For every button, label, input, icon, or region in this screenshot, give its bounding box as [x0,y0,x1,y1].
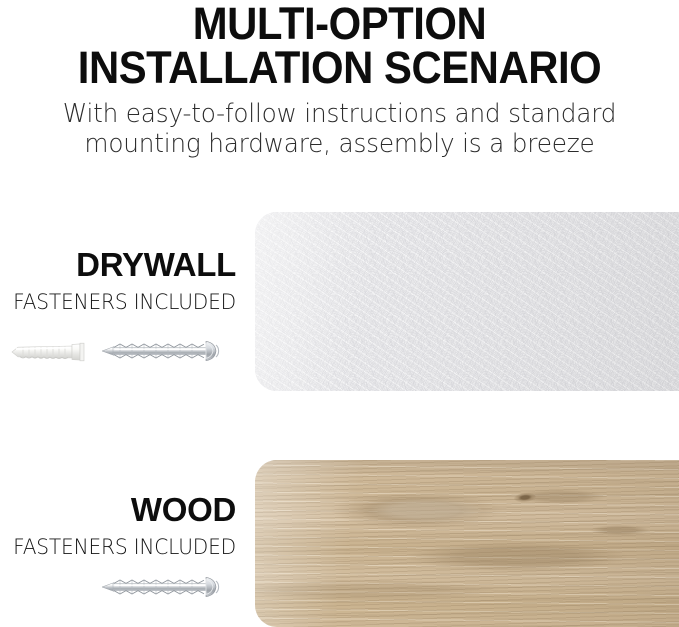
infographic-canvas: MULTI-OPTION INSTALLATION SCENARIO With … [0,0,679,627]
wall-anchor-icon [10,339,88,365]
title-line-1: MULTI-OPTION [24,2,655,46]
wood-screw-icon [100,574,228,600]
wood-label-block: WOOD FASTENERS INCLUDED [0,493,236,558]
drywall-surface-panel [255,212,679,391]
wood-hardware-group [10,572,240,604]
page-subtitle: With easy-to-follow instructions and sta… [0,100,679,159]
drywall-hardware-group [10,334,240,370]
subtitle-line-1: With easy-to-follow instructions and sta… [10,100,669,130]
drywall-panel-shading [255,212,679,391]
drywall-screw-icon [100,338,228,364]
wood-subheading: FASTENERS INCLUDED [9,537,236,558]
drywall-subheading: FASTENERS INCLUDED [9,292,236,313]
page-title: MULTI-OPTION INSTALLATION SCENARIO [0,2,679,90]
wood-heading: WOOD [0,493,236,526]
wood-panel-shading [255,460,679,627]
drywall-heading: DRYWALL [0,248,236,281]
drywall-label-block: DRYWALL FASTENERS INCLUDED [0,248,236,313]
title-line-2: INSTALLATION SCENARIO [24,46,655,90]
wood-surface-panel [255,460,679,627]
header: MULTI-OPTION INSTALLATION SCENARIO With … [0,2,679,159]
subtitle-line-2: mounting hardware, assembly is a breeze [10,130,669,160]
